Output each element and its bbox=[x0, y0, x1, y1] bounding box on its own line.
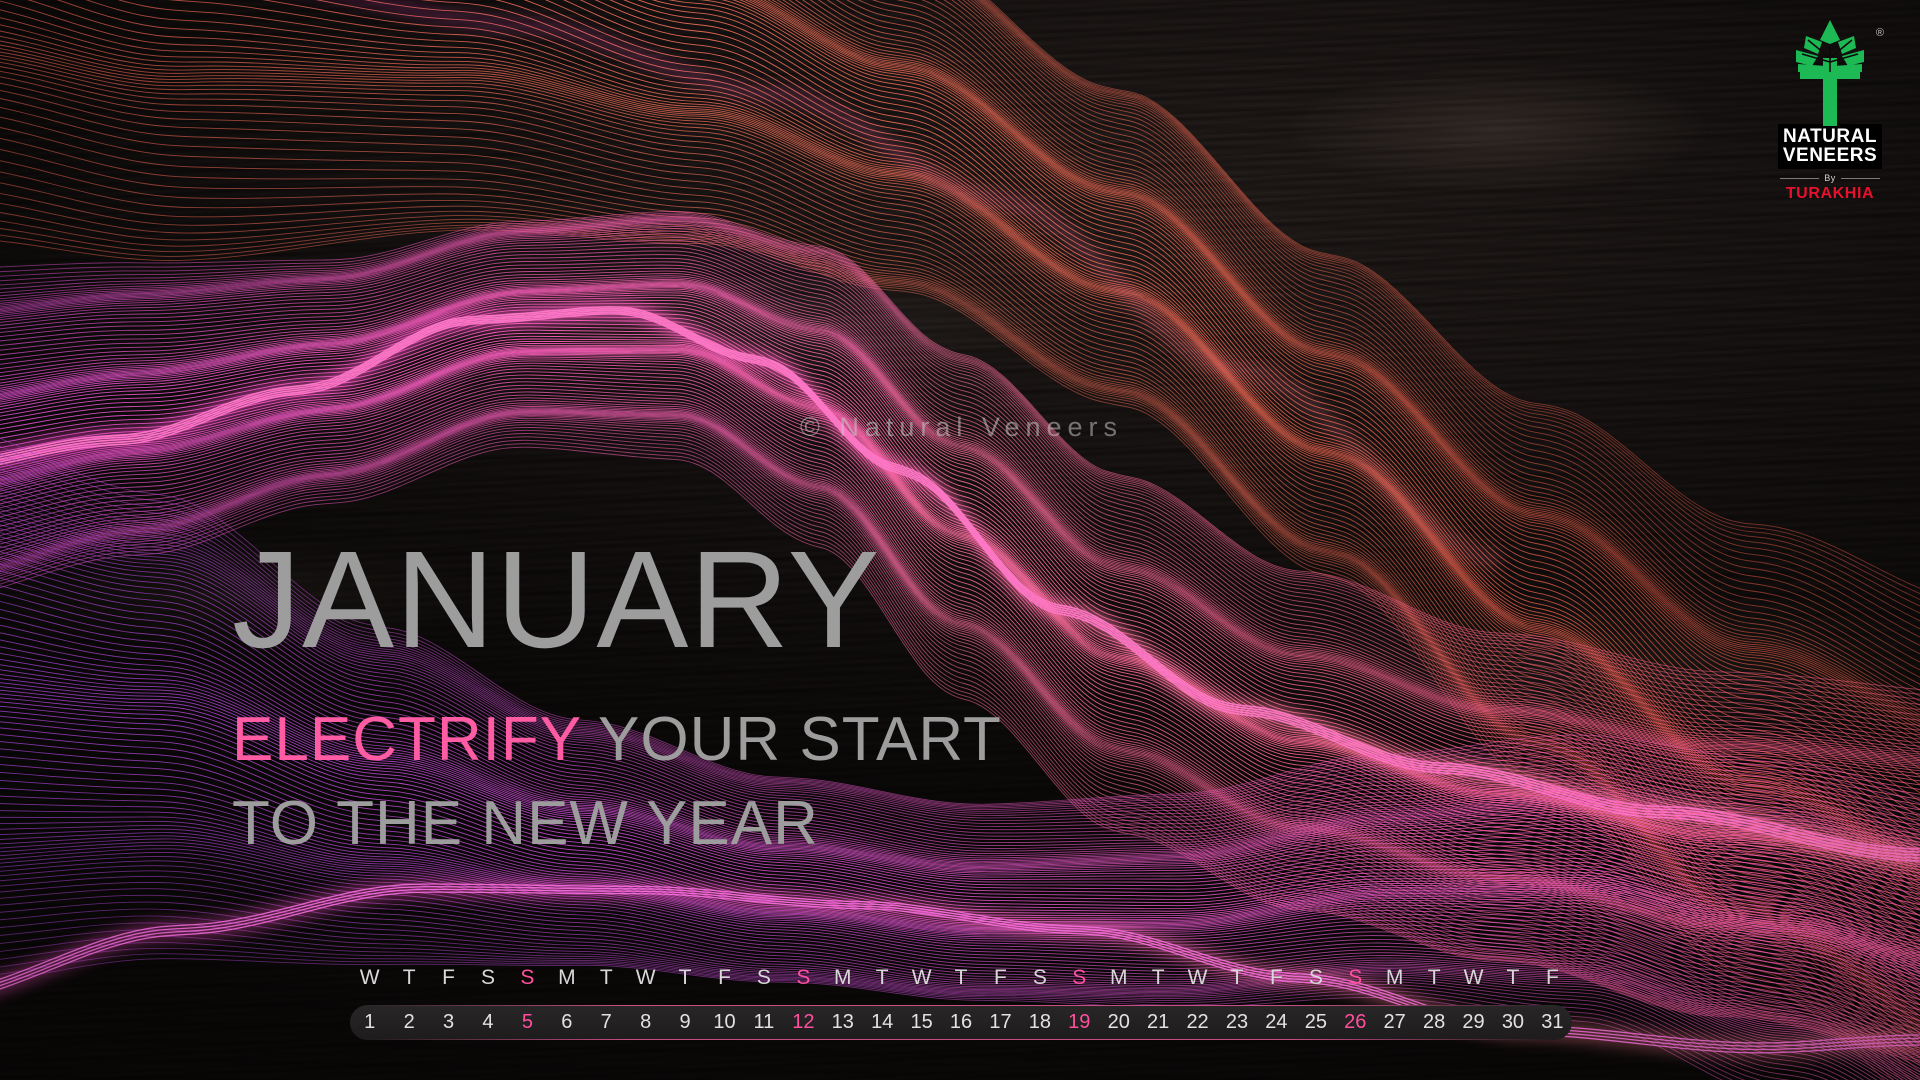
calendar-date[interactable]: 1 bbox=[350, 1011, 389, 1034]
weekday-initial: S bbox=[1020, 966, 1059, 990]
calendar-date[interactable]: 16 bbox=[941, 1011, 980, 1034]
weekday-initial: T bbox=[941, 966, 980, 990]
calendar-date[interactable]: 20 bbox=[1099, 1011, 1138, 1034]
weekday-initial: T bbox=[1217, 966, 1256, 990]
copyright-watermark: © Natural Veneers bbox=[800, 412, 1123, 443]
calendar-date[interactable]: 25 bbox=[1296, 1011, 1335, 1034]
weekday-initial: M bbox=[547, 966, 586, 990]
calendar-date[interactable]: 11 bbox=[744, 1011, 783, 1034]
calendar-date[interactable]: 4 bbox=[468, 1011, 507, 1034]
weekday-initial: S bbox=[784, 966, 823, 990]
registered-trademark-icon: ® bbox=[1876, 28, 1884, 39]
tagline-rest: YOUR START bbox=[581, 705, 1002, 774]
logo-by-divider: By bbox=[1780, 173, 1880, 183]
weekday-initials-row: WTFSSMTWTFSSMTWTFSSMTWTFSSMTWTF bbox=[350, 960, 1572, 996]
divider-right bbox=[1841, 178, 1880, 179]
page-title-month: JANUARY bbox=[232, 536, 1002, 664]
weekday-initial: T bbox=[587, 966, 626, 990]
weekday-initial: M bbox=[823, 966, 862, 990]
weekday-initial: T bbox=[1138, 966, 1177, 990]
calendar-date[interactable]: 26 bbox=[1336, 1011, 1375, 1034]
calendar-date[interactable]: 15 bbox=[902, 1011, 941, 1034]
weekday-initial: S bbox=[1336, 966, 1375, 990]
calendar-date[interactable]: 31 bbox=[1533, 1011, 1572, 1034]
calendar-date[interactable]: 10 bbox=[705, 1011, 744, 1034]
weekday-initial: F bbox=[981, 966, 1020, 990]
weekday-initial: F bbox=[429, 966, 468, 990]
weekday-initial: F bbox=[1533, 966, 1572, 990]
weekday-initial: W bbox=[1178, 966, 1217, 990]
weekday-initial: W bbox=[350, 966, 389, 990]
calendar-date[interactable]: 24 bbox=[1257, 1011, 1296, 1034]
calendar-date[interactable]: 12 bbox=[784, 1011, 823, 1034]
headline-block: JANUARY ELECTRIFY YOUR START TO THE NEW … bbox=[232, 536, 1002, 866]
calendar-date[interactable]: 2 bbox=[389, 1011, 428, 1034]
calendar-date[interactable]: 21 bbox=[1138, 1011, 1177, 1034]
weekday-initial: T bbox=[862, 966, 901, 990]
calendar-date[interactable]: 5 bbox=[508, 1011, 547, 1034]
calendar-date[interactable]: 13 bbox=[823, 1011, 862, 1034]
tagline-accent-word: ELECTRIFY bbox=[232, 705, 581, 774]
logo-word-natural: NATURAL bbox=[1782, 127, 1878, 146]
weekday-initial: T bbox=[1493, 966, 1532, 990]
calendar-date[interactable]: 18 bbox=[1020, 1011, 1059, 1034]
calendar-strip: WTFSSMTWTFSSMTWTFSSMTWTFSSMTWTF 12345678… bbox=[350, 960, 1572, 1040]
calendar-date[interactable]: 14 bbox=[862, 1011, 901, 1034]
calendar-date[interactable]: 3 bbox=[429, 1011, 468, 1034]
weekday-initial: W bbox=[1454, 966, 1493, 990]
weekday-initial: S bbox=[468, 966, 507, 990]
weekday-initial: M bbox=[1375, 966, 1414, 990]
weekday-initial: T bbox=[389, 966, 428, 990]
weekday-initial: W bbox=[626, 966, 665, 990]
calendar-date[interactable]: 29 bbox=[1454, 1011, 1493, 1034]
calendar-date[interactable]: 27 bbox=[1375, 1011, 1414, 1034]
calendar-date[interactable]: 9 bbox=[665, 1011, 704, 1034]
divider-left bbox=[1780, 178, 1819, 179]
weekday-initial: W bbox=[902, 966, 941, 990]
tagline-line-2: TO THE NEW YEAR bbox=[232, 782, 1002, 866]
calendar-date[interactable]: 8 bbox=[626, 1011, 665, 1034]
weekday-initial: S bbox=[508, 966, 547, 990]
weekday-initial: F bbox=[1257, 966, 1296, 990]
calendar-date[interactable]: 23 bbox=[1217, 1011, 1256, 1034]
weekday-initial: T bbox=[665, 966, 704, 990]
weekday-initial: F bbox=[705, 966, 744, 990]
weekday-initial: S bbox=[744, 966, 783, 990]
calendar-date[interactable]: 17 bbox=[981, 1011, 1020, 1034]
logo-word-veneers: VENEERS bbox=[1782, 146, 1878, 165]
calendar-date[interactable]: 22 bbox=[1178, 1011, 1217, 1034]
weekday-initial: S bbox=[1060, 966, 1099, 990]
weekday-initial: T bbox=[1414, 966, 1453, 990]
logo-by-label: By bbox=[1824, 173, 1836, 183]
calendar-date[interactable]: 28 bbox=[1414, 1011, 1453, 1034]
dates-bar: 1234567891011121314151617181920212223242… bbox=[350, 1005, 1572, 1040]
tree-leaf-icon: ® bbox=[1778, 14, 1882, 126]
wallpaper-canvas: ® NATURAL VENEERS By TURAKHIA © Natural … bbox=[0, 0, 1920, 1080]
weekday-initial: S bbox=[1296, 966, 1335, 990]
brand-logo: ® NATURAL VENEERS By TURAKHIA bbox=[1778, 14, 1882, 203]
logo-parent-brand: TURAKHIA bbox=[1778, 185, 1882, 203]
tagline-line-1: ELECTRIFY YOUR START bbox=[232, 698, 1002, 782]
logo-wordmark: NATURAL VENEERS bbox=[1778, 124, 1882, 169]
calendar-date[interactable]: 6 bbox=[547, 1011, 586, 1034]
weekday-initial: M bbox=[1099, 966, 1138, 990]
calendar-date[interactable]: 30 bbox=[1493, 1011, 1532, 1034]
calendar-date[interactable]: 19 bbox=[1060, 1011, 1099, 1034]
calendar-date[interactable]: 7 bbox=[587, 1011, 626, 1034]
